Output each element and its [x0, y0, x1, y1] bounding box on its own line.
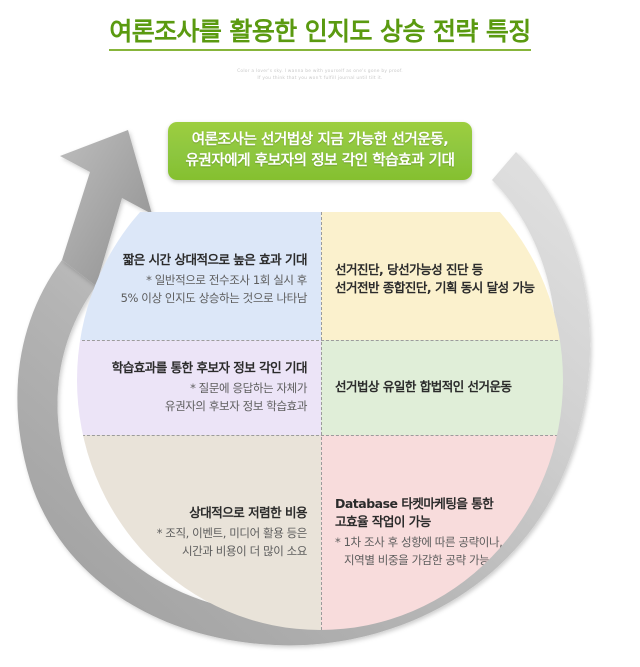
cell-body-line-2: 유권자의 후보자 정보 학습효과 [91, 398, 307, 416]
subtitle-line-1: Color a lover's sky. I wanna be with you… [0, 69, 640, 76]
content-cells-grid: 짧은 시간 상대적으로 높은 효과 기대 * 일반적으로 전수조사 1회 실시 … [77, 212, 563, 630]
cell-body-line-2: 시간과 비용이 더 많이 소요 [91, 543, 307, 561]
divider-horizontal-1 [77, 340, 563, 341]
cell-heading: 상대적으로 저렴한 비용 [91, 504, 307, 522]
cell-only-legal-campaign: 선거법상 유일한 합법적인 선거운동 [321, 340, 563, 435]
cell-heading-2: 고효율 작업이 가능 [335, 513, 549, 531]
cell-body-line-1: * 1차 조사 후 성향에 따른 공략이나, [335, 534, 549, 552]
cell-heading: 학습효과를 통한 후보자 정보 각인 기대 [91, 359, 307, 377]
cell-relatively-cheap-cost: 상대적으로 저렴한 비용 * 조직, 이벤트, 미디어 활용 등은 시간과 비용… [77, 435, 321, 630]
divider-vertical [321, 212, 322, 630]
title-block: 여론조사를 활용한 인지도 상승 전략 특징 [0, 18, 640, 51]
summary-banner-line-2: 유권자에게 후보자의 정보 각인 학습효과 기대 [185, 151, 454, 172]
cell-database-target-marketing: Database 타켓마케팅을 통한 고효율 작업이 가능 * 1차 조사 후 … [321, 435, 563, 630]
cell-body-line-2: 지역별 비중을 가감한 공략 가능 [335, 552, 549, 570]
cell-body-line-1: 선거전반 종합진단, 기획 동시 달성 가능 [335, 279, 549, 297]
cell-heading: 선거법상 유일한 합법적인 선거운동 [335, 378, 549, 396]
infographic-canvas: 여론조사를 활용한 인지도 상승 전략 특징 Color a lover's s… [0, 0, 640, 667]
subtitle-line-2: If you think that you won't fulfill jour… [0, 76, 640, 83]
cell-election-diagnosis: 선거진단, 당선가능성 진단 등 선거전반 종합진단, 기획 동시 달성 가능 [321, 212, 563, 340]
cell-body-line-1: * 질문에 응답하는 자체가 [91, 380, 307, 398]
subtitle-block: Color a lover's sky. I wanna be with you… [0, 69, 640, 83]
cell-short-time-high-effect: 짧은 시간 상대적으로 높은 효과 기대 * 일반적으로 전수조사 1회 실시 … [77, 212, 321, 340]
cell-learning-effect: 학습효과를 통한 후보자 정보 각인 기대 * 질문에 응답하는 자체가 유권자… [77, 340, 321, 435]
cell-heading: Database 타켓마케팅을 통한 [335, 495, 549, 513]
cell-body-line-1: * 일반적으로 전수조사 1회 실시 후 [91, 272, 307, 290]
cell-body-line-2: 5% 이상 인지도 상승하는 것으로 나타남 [91, 290, 307, 308]
summary-banner-line-1: 여론조사는 선거법상 지금 가능한 선거운동, [192, 130, 449, 151]
cell-body-line-1: * 조직, 이벤트, 미디어 활용 등은 [91, 525, 307, 543]
cell-heading: 선거진단, 당선가능성 진단 등 [335, 261, 549, 279]
page-title: 여론조사를 활용한 인지도 상승 전략 특징 [109, 18, 530, 51]
divider-horizontal-2 [77, 435, 563, 436]
summary-banner: 여론조사는 선거법상 지금 가능한 선거운동, 유권자에게 후보자의 정보 각인… [168, 122, 472, 180]
content-cells-disc: 짧은 시간 상대적으로 높은 효과 기대 * 일반적으로 전수조사 1회 실시 … [77, 212, 563, 630]
cell-heading: 짧은 시간 상대적으로 높은 효과 기대 [91, 251, 307, 269]
